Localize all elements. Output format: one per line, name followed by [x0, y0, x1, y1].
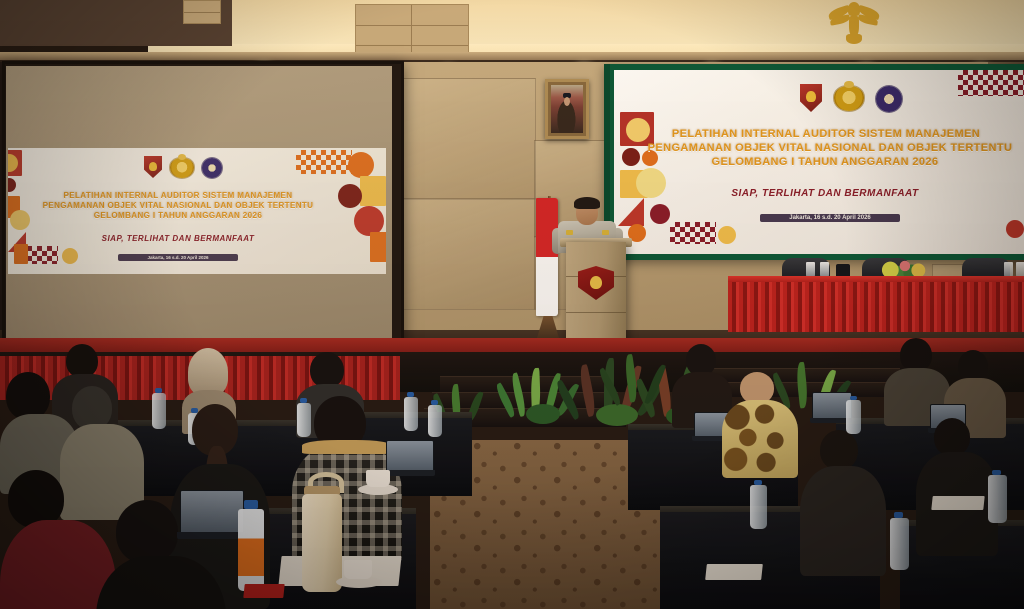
thermos-body — [302, 494, 342, 592]
plant-leaf — [577, 364, 598, 417]
slide-title-line-2: PENGAMANAN OBJEK VITAL NASIONAL DAN OBJE… — [22, 202, 334, 211]
laptop-screen[interactable] — [180, 490, 244, 534]
person-head — [66, 344, 98, 378]
slide-circular-badge-logo — [202, 158, 222, 178]
bottle-body — [890, 518, 909, 570]
seminar-room-photo: PELATIHAN INTERNAL AUDITOR SISTEM MANAJE… — [0, 0, 1024, 609]
plant-leaf — [623, 354, 639, 403]
head-table-red-skirting — [728, 282, 1024, 332]
stage-banner: PELATIHAN INTERNAL AUDITOR SISTEM MANAJE… — [614, 70, 1024, 254]
slide-deco-circle — [8, 178, 16, 192]
person-head — [934, 418, 970, 456]
garuda-pancasila-icon — [828, 0, 880, 44]
banner-deco-circle — [650, 204, 670, 224]
banner-deco-checker — [670, 222, 716, 244]
indonesian-flag — [536, 198, 558, 316]
presidential-portrait — [545, 79, 589, 139]
person-head — [900, 338, 932, 372]
ceiling-vent-small — [183, 0, 221, 24]
slide-title-line-3: GELOMBANG I TAHUN ANGGARAN 2026 — [38, 212, 318, 221]
person-hijab-head — [188, 348, 228, 396]
slide-date-location: Jakarta, 16 s.d. 20 April 2026 — [118, 254, 238, 261]
slide-deco-square — [370, 232, 386, 262]
bottle-body — [750, 485, 767, 529]
bottle-body — [297, 403, 311, 437]
plant-leaf — [644, 363, 666, 405]
slide-tagline: SIAP, TERLIHAT DAN BERMANFAAT — [68, 234, 288, 243]
portrait-image — [551, 85, 583, 133]
notepad — [705, 564, 763, 580]
bottle-body — [238, 509, 264, 591]
slide-deco-circle — [10, 210, 30, 230]
speaker-uniform-badge — [602, 230, 609, 235]
laptop-base[interactable] — [383, 470, 435, 476]
banner-deco-triangle — [618, 198, 644, 226]
banner-deco-circle — [718, 226, 736, 244]
slide-deco-checker — [296, 150, 352, 174]
banner-polri-gold-emblem-logo — [834, 86, 864, 111]
slide-deco-circle — [62, 248, 78, 264]
person-collar — [302, 440, 392, 454]
plant-leaf — [795, 362, 809, 409]
portrait-face — [564, 97, 570, 107]
plant-leaf — [526, 404, 560, 424]
coffee-cup — [366, 470, 390, 487]
slide-deco-square — [14, 244, 28, 264]
bottle-cap — [244, 500, 258, 509]
projected-slide: PELATIHAN INTERNAL AUDITOR SISTEM MANAJE… — [8, 148, 386, 274]
banner-deco-checker — [958, 70, 1024, 96]
person-head — [820, 430, 858, 470]
bottle-body — [988, 475, 1007, 523]
person-body-batik-shirt — [722, 400, 798, 478]
slide-deco-square — [360, 176, 386, 206]
banner-tagline: SIAP, TERLIHAT DAN BERMANFAAT — [700, 188, 950, 199]
side-plant — [614, 352, 668, 414]
banner-shield-emblem-logo — [800, 84, 822, 112]
banner-title-line-1: PELATIHAN INTERNAL AUDITOR SISTEM MANAJE… — [646, 128, 1006, 140]
speaker-hair — [574, 197, 600, 209]
person-head — [6, 372, 50, 420]
notepad — [931, 496, 984, 510]
bottle-body — [428, 405, 442, 437]
slide-title-line-1: PELATIHAN INTERNAL AUDITOR SISTEM MANAJE… — [28, 192, 328, 201]
bottle-body — [846, 400, 861, 434]
slide-deco-circle — [338, 184, 362, 208]
slide-polri-gold-emblem-logo — [170, 158, 194, 178]
laptop-screen[interactable] — [386, 440, 434, 472]
banner-title-line-2: PENGAMANAN OBJEK VITAL NASIONAL DAN OBJE… — [630, 142, 1024, 154]
coffee-cup — [344, 560, 372, 579]
slide-deco-circle — [348, 152, 374, 178]
bottle-body — [152, 393, 166, 429]
laptop-base[interactable] — [177, 532, 245, 539]
banner-date-location: Jakarta, 16 s.d. 20 April 2026 — [760, 214, 900, 222]
person-head — [116, 500, 178, 564]
head-table-flower-arrangement — [878, 258, 934, 278]
speaker-uniform-badge — [566, 230, 573, 235]
banner-circular-badge-logo — [876, 86, 902, 112]
banner-title-line-3: GELOMBANG I TAHUN ANGGARAN 2026 — [660, 156, 990, 168]
slide-shield-emblem-logo — [144, 156, 162, 178]
banner-deco-circle — [636, 168, 666, 198]
red-item-on-table — [243, 584, 284, 598]
person-head — [310, 352, 344, 388]
bottle-body — [404, 397, 418, 431]
banner-deco-circle — [1006, 220, 1024, 238]
podium-seam — [566, 312, 626, 313]
person-body — [800, 466, 886, 576]
